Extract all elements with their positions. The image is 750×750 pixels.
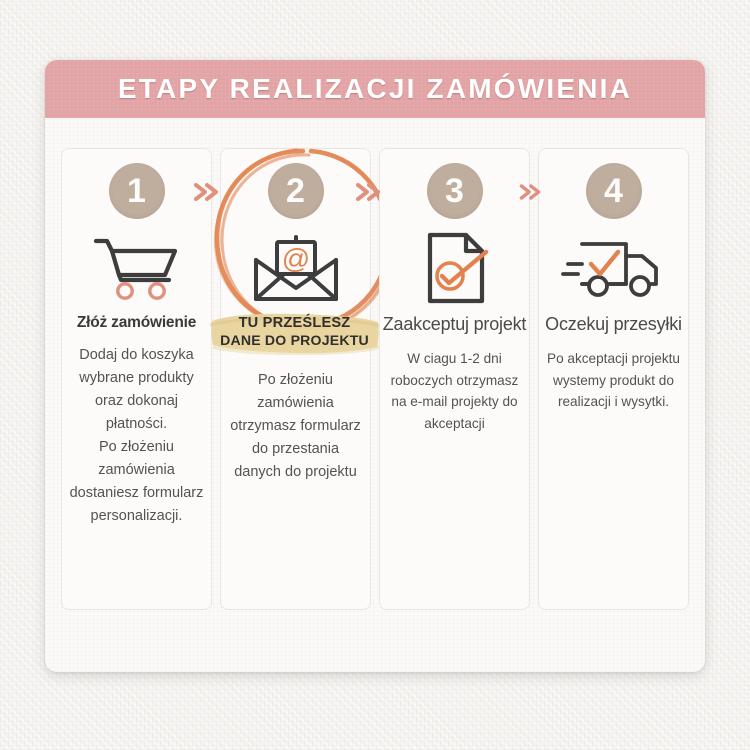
shopping-cart-icon <box>77 229 197 307</box>
step-number-badge-1: 1 <box>109 163 165 219</box>
envelope-at-icon: @ <box>236 229 356 307</box>
step-arrow-1 <box>191 178 221 206</box>
step-arrow-2 <box>353 178 383 206</box>
delivery-truck-icon <box>554 229 674 307</box>
step-number-badge-2: 2 <box>268 163 324 219</box>
highlight-banner-line-1: TU PRZEŚLESZ <box>239 315 351 333</box>
step-title-3: Zaakceptuj projekt <box>380 313 530 336</box>
step-number-badge-4: 4 <box>586 163 642 219</box>
double-chevron-right-icon <box>192 180 220 204</box>
step-arrow-3 <box>515 178 545 206</box>
step-card-4[interactable]: 4 <box>538 148 689 610</box>
step-card-1[interactable]: 1 Złóż zamówienie Dodaj do koszyka wybra… <box>61 148 212 610</box>
step-card-2[interactable]: 2 @ <box>220 148 371 610</box>
step-body-4: Po akceptacji projektu wystemy produkt d… <box>546 348 682 412</box>
step-body-2: Po złożeniu zamówienia otrzymasz formula… <box>228 369 364 484</box>
page-title: ETAPY REALIZACJI ZAMÓWIENIA <box>118 73 632 105</box>
infographic-panel: ETAPY REALIZACJI ZAMÓWIENIA 1 <box>45 60 705 672</box>
highlight-banner-line-2: DANE DO PROJEKTU <box>220 332 369 349</box>
step-card-3[interactable]: 3 Zaakceptuj projekt W ciagu 1-2 dni rob… <box>379 148 530 610</box>
step-body-1: Dodaj do koszyka wybrane produkty oraz d… <box>69 344 205 527</box>
double-chevron-right-icon <box>354 180 382 204</box>
double-chevron-right-icon <box>518 181 542 203</box>
highlight-banner: TU PRZEŚLESZ DANE DO PROJEKTU <box>209 309 381 355</box>
document-check-icon <box>395 229 515 307</box>
step-number-badge-3: 3 <box>427 163 483 219</box>
svg-text:@: @ <box>281 243 309 274</box>
step-body-3: W ciagu 1-2 dni roboczych otrzymasz na e… <box>387 348 523 434</box>
header-bar: ETAPY REALIZACJI ZAMÓWIENIA <box>45 60 705 118</box>
step-title-1: Złóż zamówienie <box>62 313 212 332</box>
steps-container: 1 Złóż zamówienie Dodaj do koszyka wybra… <box>61 148 689 610</box>
step-title-4: Oczekuj przesyłki <box>539 313 689 336</box>
